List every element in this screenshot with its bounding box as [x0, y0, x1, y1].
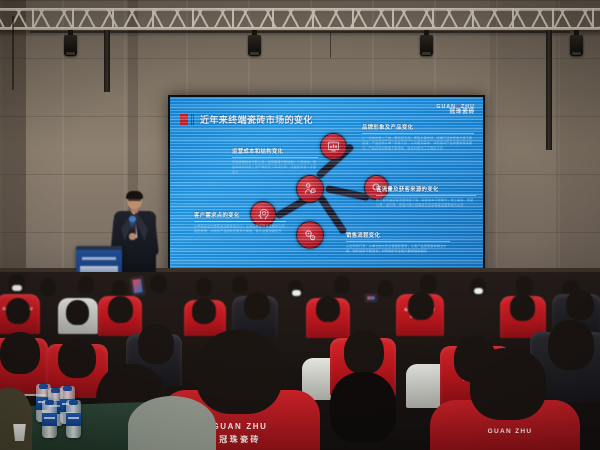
stage-spotlight [248, 30, 261, 56]
audience-head [408, 292, 434, 320]
wall-pipe-right [546, 30, 552, 150]
block-underline [376, 195, 476, 196]
block-body: 从一线城市到二三线，再到四五线，再到乡镇市场，终端门店的形象升级不断加速；产品结… [362, 136, 474, 150]
block-heading: 运营成本和结构变化 [232, 147, 318, 155]
slide-block-customer-demand: 客户需求点的变化 从单纯关注价格到关注整体性价比；从关注单品到关注整体空间搭配效… [194, 211, 286, 234]
conference-photo: 近年来终端瓷砖市场的变化 GUANZHU 冠珠瓷砖 [0, 0, 600, 450]
block-heading: 销售流程变化 [346, 231, 450, 239]
foreground-person-silhouette [128, 396, 216, 450]
audience-head [40, 278, 56, 296]
audience-head [232, 276, 248, 294]
water-bottle [42, 400, 57, 438]
speaker-hand [129, 233, 136, 240]
wall-pipe-left [104, 30, 110, 92]
audience-head [334, 276, 350, 294]
bottle-label [42, 413, 57, 426]
block-body: 从单纯关注价格到关注整体性价比；从关注单品到关注整体空间搭配效果；从购买产品到购… [194, 224, 286, 234]
microphone-head [129, 216, 136, 222]
truss-cable-drop [12, 16, 14, 90]
audience-head [58, 338, 96, 378]
audience-head [420, 274, 437, 293]
audience-head [378, 280, 393, 297]
audience-head [566, 290, 594, 320]
audience-head [196, 278, 212, 296]
audience-head [138, 324, 174, 364]
block-heading: 品牌形象及产品变化 [362, 123, 474, 131]
gears-icon [303, 228, 317, 242]
audience-head [192, 298, 216, 324]
audience-head [6, 298, 30, 324]
face-mask [292, 290, 301, 296]
bottle-cap [63, 386, 72, 391]
face-mask [12, 285, 22, 291]
foreground-vest-logo-en: GUAN ZHU [488, 428, 533, 435]
audience-head [316, 296, 340, 322]
node-people [296, 175, 324, 203]
block-body: 线下自然进店客流量持续下滑，获客成本不断攀升；线上渠道、家装公司、设计师、老客户… [376, 198, 476, 208]
audience-head [244, 292, 270, 320]
block-body: 从坐商到行商，从单次成交到全程跟踪服务；从卖产品到卖整体解决方案，销售链条不断延… [346, 244, 450, 254]
block-heading: 客户需求点的变化 [194, 211, 286, 219]
audience-head [510, 294, 535, 321]
audience-head [344, 330, 384, 374]
person-gear-icon [303, 182, 317, 196]
audience-head [150, 274, 167, 293]
block-underline [194, 221, 286, 222]
face-mask [474, 288, 483, 294]
audience-head [112, 280, 127, 297]
audience-head [516, 276, 533, 295]
foreground-head [196, 330, 282, 414]
block-underline [362, 133, 474, 134]
bottle-cap [45, 400, 54, 405]
audience-head [78, 276, 94, 294]
slide-block-traffic-source: 客流量及获客来源的变化 线下自然进店客流量持续下滑，获客成本不断攀升；线上渠道、… [376, 185, 476, 208]
lectern-text-line [82, 257, 116, 260]
audience-head [108, 296, 133, 323]
document-chart-icon [327, 140, 340, 153]
audience-head [66, 300, 89, 325]
attendee-phone [130, 276, 145, 296]
truss-cable-run [30, 31, 570, 33]
stage-spotlight [570, 30, 583, 56]
slide-block-sales-process: 销售流程变化 从坐商到行商，从单次成交到全程跟踪服务；从卖产品到卖整体解决方案，… [346, 231, 450, 254]
attendee-phone [365, 294, 377, 302]
block-underline [346, 241, 450, 242]
stage-spotlight [64, 30, 77, 56]
node-brand [320, 133, 347, 160]
foreground-vest-logo-cn: 冠珠瓷砖 [219, 434, 261, 445]
audience-head [0, 332, 40, 374]
lectern-top [76, 246, 122, 250]
bottle-cap [69, 400, 78, 405]
truss-cable-drop-2 [330, 32, 331, 58]
bottle-label [66, 413, 81, 426]
speaker-glasses [128, 198, 141, 201]
block-heading: 客流量及获客来源的变化 [376, 185, 476, 193]
slide-block-brand-product: 品牌形象及产品变化 从一线城市到二三线，再到四五线，再到乡镇市场，终端门店的形象… [362, 123, 474, 150]
audience-head [548, 320, 594, 370]
foreground-vest-logo-en: GUAN ZHU [212, 422, 267, 431]
lighting-truss [0, 8, 600, 30]
block-underline [232, 157, 318, 158]
slide-block-operating-cost: 运营成本和结构变化 传统终端成本不断上涨，经营困难不断加剧；人员成本、租金成本的… [232, 147, 318, 174]
water-bottle [66, 400, 81, 438]
block-body: 传统终端成本不断上涨，经营困难不断加剧；人员成本、租金成本的持续上涨严重挤压了利… [232, 160, 318, 174]
stage-spotlight [420, 30, 433, 56]
bottle-cap [39, 384, 48, 389]
bottle-cap [51, 388, 60, 393]
foreground-head [470, 348, 546, 420]
led-screen: 近年来终端瓷砖市场的变化 GUANZHU 冠珠瓷砖 [170, 97, 483, 285]
node-settings [296, 221, 324, 249]
foreground-head [330, 372, 396, 442]
